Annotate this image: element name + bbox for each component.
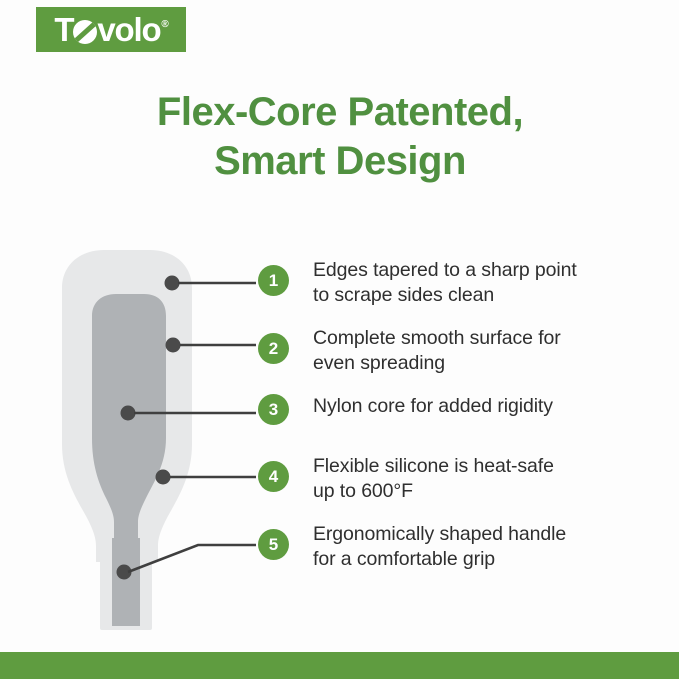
status-badge: 1 xyxy=(258,265,289,296)
feature-text-line-1: Complete smooth surface for xyxy=(313,327,561,349)
registered-trademark-symbol: ® xyxy=(161,19,167,30)
wordmark-suffix: volo xyxy=(97,11,160,48)
feature-text: Ergonomically shaped handle for a comfor… xyxy=(313,522,663,573)
spatula-cutaway-diagram xyxy=(18,248,268,630)
feature-text-line-1: Edges tapered to a sharp point xyxy=(313,259,577,281)
feature-text-line-2: up to 600°F xyxy=(313,480,413,502)
page-title-line-2: Smart Design xyxy=(40,137,640,186)
callout-dot-1 xyxy=(165,276,180,291)
feature-text-line-1: Flexible silicone is heat-safe xyxy=(313,455,554,477)
page-title-line-1: Flex-Core Patented, xyxy=(40,88,640,137)
list-item: 1 Edges tapered to a sharp point to scra… xyxy=(258,258,663,309)
feature-text: Complete smooth surface for even spreadi… xyxy=(313,326,663,377)
feature-text: Flexible silicone is heat-safe up to 600… xyxy=(313,454,663,505)
feature-text: Edges tapered to a sharp point to scrape… xyxy=(313,258,663,309)
list-item: 4 Flexible silicone is heat-safe up to 6… xyxy=(258,454,663,505)
brand-wordmark: Tvolo® xyxy=(54,13,167,46)
status-badge: 4 xyxy=(258,461,289,492)
page-title: Flex-Core Patented, Smart Design xyxy=(40,88,640,186)
feature-text: Nylon core for added rigidity xyxy=(313,394,663,419)
list-item: 2 Complete smooth surface for even sprea… xyxy=(258,326,663,377)
status-badge: 3 xyxy=(258,394,289,425)
feature-text-line-2: even spreading xyxy=(313,352,445,374)
callout-dot-4 xyxy=(156,470,171,485)
feature-text-line-1: Nylon core for added rigidity xyxy=(313,395,553,417)
list-item: 5 Ergonomically shaped handle for a comf… xyxy=(258,522,663,573)
wordmark-prefix: T xyxy=(54,11,73,48)
feature-text-line-2: to scrape sides clean xyxy=(313,284,494,306)
status-badge: 2 xyxy=(258,333,289,364)
brand-logo: Tvolo® xyxy=(36,7,186,52)
callout-dot-2 xyxy=(166,338,181,353)
feature-text-line-2: for a comfortable grip xyxy=(313,548,495,570)
feature-text-line-1: Ergonomically shaped handle xyxy=(313,523,566,545)
callout-dot-5 xyxy=(117,565,132,580)
callout-dot-3 xyxy=(121,406,136,421)
infographic-page: Tvolo® Flex-Core Patented, Smart Design xyxy=(0,0,679,679)
footer-accent-bar xyxy=(0,652,679,679)
status-badge: 5 xyxy=(258,529,289,560)
list-item: 3 Nylon core for added rigidity xyxy=(258,394,663,425)
slashed-o-scoop-icon xyxy=(73,20,97,44)
